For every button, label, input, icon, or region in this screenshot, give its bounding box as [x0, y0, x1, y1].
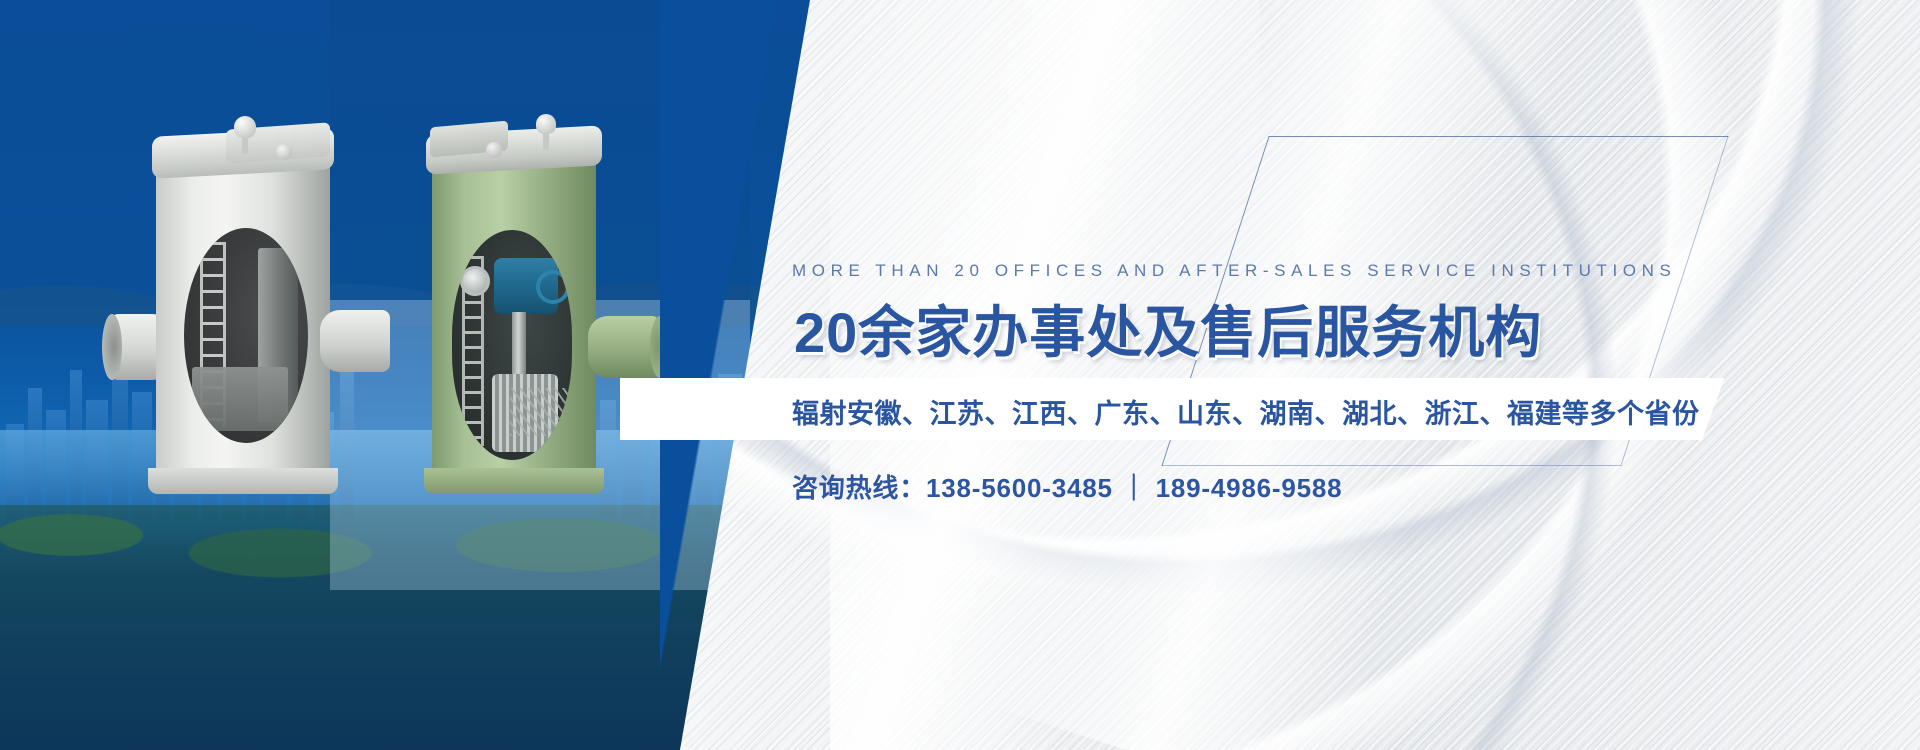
product-green-pump-station — [424, 118, 604, 488]
banner-provinces: 辐射安徽、江苏、江西、广东、山东、湖南、湖北、浙江、福建等多个省份 — [792, 392, 1700, 431]
banner-text-block: MORE THAN 20 OFFICES AND AFTER-SALES SER… — [780, 0, 1780, 750]
banner-hotline: 咨询热线：138-5600-3485 ｜ 189-4986-9588 — [792, 468, 1342, 505]
grey-outlet-pipe — [320, 310, 390, 372]
green-pipe-flange — [460, 266, 490, 296]
green-cutaway-window — [452, 230, 572, 460]
banner-eyebrow: MORE THAN 20 OFFICES AND AFTER-SALES SER… — [792, 261, 1676, 281]
green-vessel-base — [424, 468, 604, 494]
green-secondary-vent-icon — [486, 142, 502, 158]
green-outlet-pipe — [588, 316, 660, 378]
marketing-banner: MORE THAN 20 OFFICES AND AFTER-SALES SER… — [0, 0, 1920, 750]
banner-headline: 20余家办事处及售后服务机构 — [794, 288, 1542, 369]
product-grey-pump-station — [148, 118, 338, 488]
grey-secondary-vent-icon — [276, 144, 292, 160]
green-blue-valve — [494, 258, 558, 314]
grey-vessel-base — [148, 468, 338, 494]
grey-internal-equipment — [192, 367, 288, 431]
grey-vent-cap-icon — [234, 116, 256, 138]
green-vent-cap-icon — [536, 114, 556, 134]
grey-cutaway-window — [184, 228, 308, 443]
green-floor-grate — [510, 388, 568, 436]
